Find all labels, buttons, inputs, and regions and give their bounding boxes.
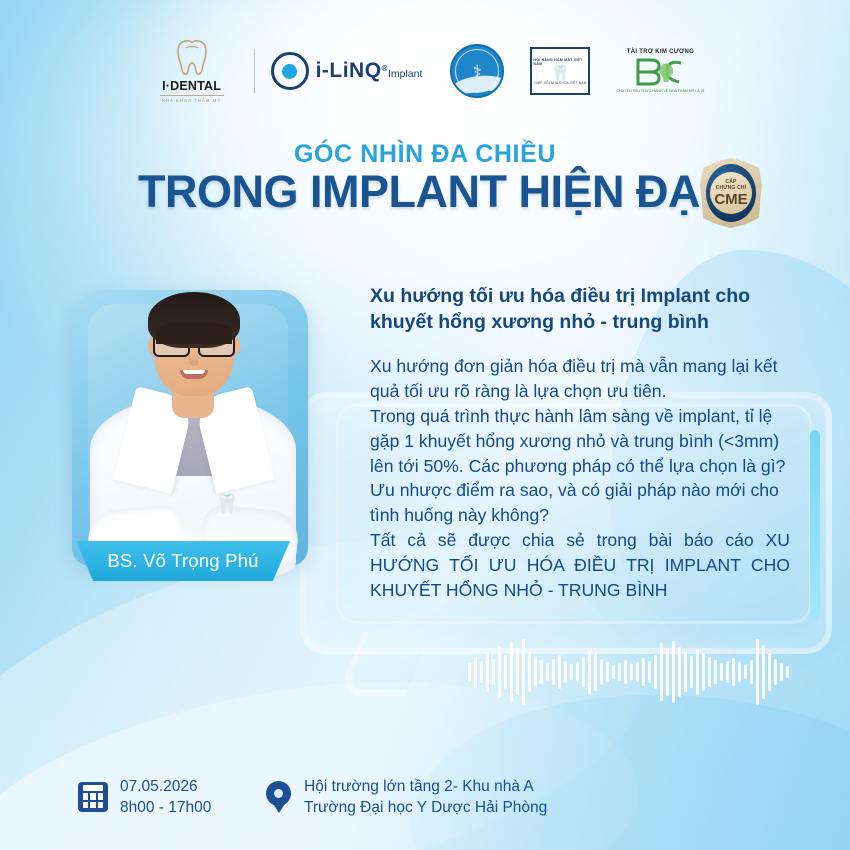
ilinq-mark-icon: [271, 52, 309, 90]
logo-ilinq: i-LiNQ®Implant: [271, 52, 423, 90]
logo-divider: [254, 49, 255, 93]
diamond-sponsor-label: TÀI TRỢ KIM CƯƠNG: [627, 49, 694, 55]
content-paragraph-3: Tất cả sẽ được chia sẻ trong bài báo cáo…: [370, 528, 790, 603]
venue-line-2: Trường Đại học Y Dược Hải Phòng: [304, 797, 547, 818]
logo-association: HỘI RĂNG HÀM MẶT VIỆT NAM 🦷 HIỆP HỘI NHA…: [530, 47, 590, 95]
content-block: Xu hướng tối ưu hóa điều trị Implant cho…: [370, 283, 790, 603]
association-bottom-text: HIỆP HỘI NHA KHOA VIỆT NAM: [534, 81, 586, 85]
logo-idental: I·DENTAL NHA KHOA THẨM MỸ: [146, 39, 238, 103]
event-poster: I·DENTAL NHA KHOA THẨM MỸ i-LiNQ®Implant…: [0, 0, 850, 850]
hair: [148, 292, 240, 348]
ilinq-sub: Implant: [388, 68, 422, 80]
cme-badge-line3: CME: [714, 192, 747, 207]
coat-tooth-emblem-icon: 🦷: [214, 492, 240, 518]
content-heading: Xu hướng tối ưu hóa điều trị Implant cho…: [370, 283, 790, 336]
idental-name: I·DENTAL: [162, 79, 221, 93]
tooth-icon: [175, 39, 209, 77]
content-body: Xu hướng đơn giản hóa điều trị mà vẫn ma…: [370, 354, 790, 604]
content-paragraph-1: Xu hướng đơn giản hóa điều trị mà vẫn ma…: [370, 354, 790, 404]
event-time: 8h00 - 17h00: [120, 797, 211, 818]
sponsor-logo-row: I·DENTAL NHA KHOA THẨM MỸ i-LiNQ®Implant…: [0, 38, 850, 104]
diamond-sponsor-mark-icon: [635, 57, 685, 87]
medical-symbol-icon: ⚕: [473, 63, 482, 80]
association-emblem-icon: HỘI RĂNG HÀM MẶT VIỆT NAM 🦷 HIỆP HỘI NHA…: [530, 47, 590, 95]
footer-date-text: 07.05.2026 8h00 - 17h00: [120, 776, 211, 819]
footer-date-block: 07.05.2026 8h00 - 17h00: [78, 776, 211, 819]
association-tooth-icon: 🦷: [551, 66, 570, 81]
event-date: 07.05.2026: [120, 776, 211, 797]
venue-line-1: Hội trường lớn tầng 2- Khu nhà A: [304, 776, 547, 797]
ilinq-name: i-LiNQ: [316, 59, 382, 82]
audio-waveform-decoration: [468, 638, 789, 706]
logo-diamond-sponsor: TÀI TRỢ KIM CƯƠNG CHUYÊN SÂU THỰC HÀNH V…: [616, 49, 704, 93]
hospital-emblem-icon: ⚕: [450, 44, 504, 98]
speaker-name-banner: BS. Võ Trọng Phú: [76, 541, 290, 581]
calendar-icon: [78, 782, 108, 812]
content-paragraph-2: Trong quá trình thực hành lâm sàng về im…: [370, 404, 790, 529]
ilinq-registered-mark: ®: [382, 64, 388, 73]
footer-bar: 07.05.2026 8h00 - 17h00 Hội trường lớn t…: [0, 762, 850, 850]
logo-hospital: ⚕: [450, 44, 504, 98]
diamond-sponsor-sub: CHUYÊN SÂU THỰC HÀNH VỀ NHA THẨM MỸ LÀ G…: [616, 89, 704, 93]
footer-venue-block: Hội trường lớn tầng 2- Khu nhà A Trường …: [266, 776, 547, 819]
speaker-figure: 🦷: [88, 270, 298, 570]
location-pin-icon: [266, 781, 292, 813]
footer-venue-text: Hội trường lớn tầng 2- Khu nhà A Trường …: [304, 776, 547, 819]
idental-tagline: NHA KHOA THẨM MỸ: [160, 95, 224, 103]
cyan-edge-accent: [810, 430, 820, 620]
nose: [189, 354, 199, 366]
cme-certificate-badge: CẤP CHỨNG CHỈ CME: [700, 158, 762, 228]
